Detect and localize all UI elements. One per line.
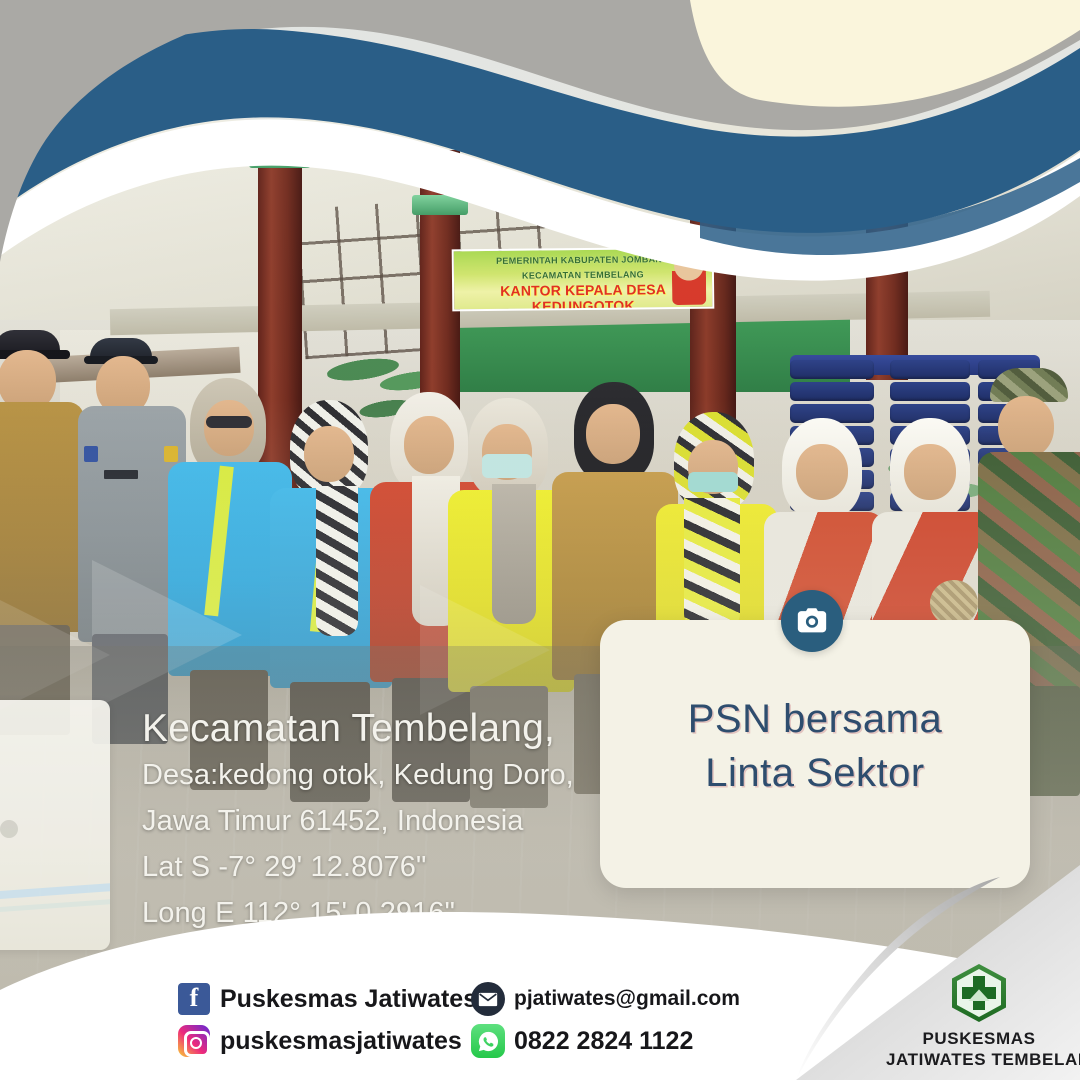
footer-facebook-label: Puskesmas Jatiwates bbox=[220, 985, 477, 1014]
footer-social-column: f Puskesmas Jatiwates puskesmasjatiwates bbox=[176, 978, 477, 1062]
logo-line-1: PUSKESMAS bbox=[886, 1028, 1072, 1049]
psn-title-line-1: PSN bersama bbox=[600, 692, 1030, 746]
green-cross-hexagon-icon bbox=[952, 964, 1006, 1022]
puskesmas-logo: PUSKESMAS JATIWATES TEMBELANG bbox=[886, 964, 1072, 1070]
map-card-line-2: ecam bbox=[0, 806, 114, 852]
whatsapp-icon bbox=[470, 1023, 506, 1059]
footer-whatsapp-row[interactable]: 0822 2824 1122 bbox=[470, 1020, 740, 1062]
footer-instagram-label: puskesmasjatiwates bbox=[220, 1027, 462, 1056]
gps-mini-map-labels: alai D ecam bbox=[0, 760, 114, 852]
footer-contact-column: pjatiwates@gmail.com 0822 2824 1122 bbox=[470, 978, 740, 1062]
logo-line-2: JATIWATES TEMBELANG bbox=[886, 1049, 1072, 1070]
psn-title-line-2: Linta Sektor bbox=[600, 746, 1030, 800]
footer-facebook-row[interactable]: f Puskesmas Jatiwates bbox=[176, 978, 477, 1020]
footer-whatsapp-label: 0822 2824 1122 bbox=[514, 1027, 693, 1056]
email-icon bbox=[470, 981, 506, 1017]
facebook-icon: f bbox=[176, 981, 212, 1017]
footer-email-row[interactable]: pjatiwates@gmail.com bbox=[470, 978, 740, 1020]
psn-title-text: PSN bersama Linta Sektor bbox=[600, 692, 1030, 800]
top-left-decoration bbox=[0, 0, 360, 300]
instagram-icon bbox=[176, 1023, 212, 1059]
footer-email-label: pjatiwates@gmail.com bbox=[514, 987, 740, 1011]
footer-instagram-row[interactable]: puskesmasjatiwates bbox=[176, 1020, 477, 1062]
camera-icon bbox=[781, 590, 843, 652]
poster-canvas: PEMERINTAH KABUPATEN JOMBANG KECAMATAN T… bbox=[0, 0, 1080, 1080]
map-card-line-1: alai D bbox=[0, 760, 114, 806]
